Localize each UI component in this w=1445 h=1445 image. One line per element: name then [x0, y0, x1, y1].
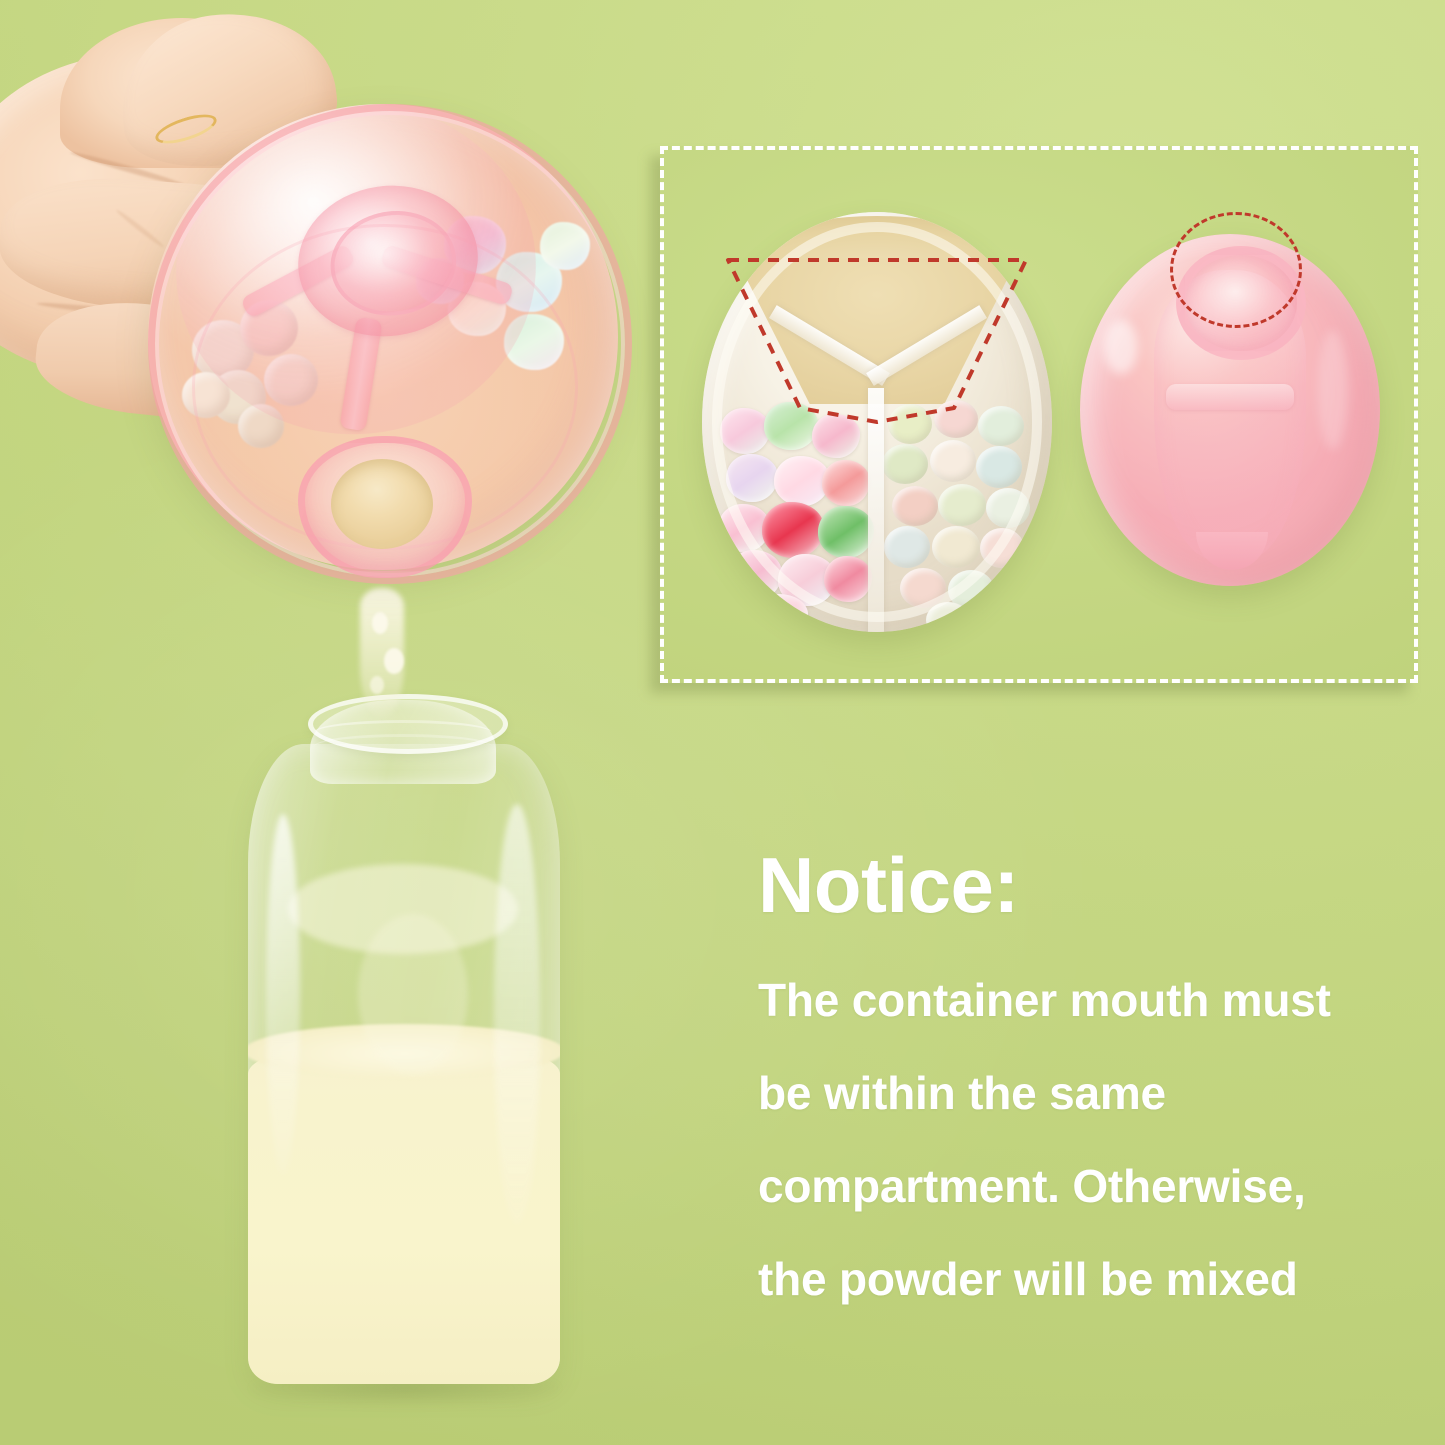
powder-speck [384, 648, 404, 674]
product-infographic: Notice: The container mouth must be with… [0, 0, 1445, 1445]
notice-title: Notice: [758, 846, 1398, 924]
pour-spout [298, 436, 472, 578]
bottle-highlight-right [494, 804, 540, 1224]
notice-block: Notice: The container mouth must be with… [758, 846, 1398, 1326]
powder-speck [372, 612, 388, 634]
notice-line: the powder will be mixed [758, 1233, 1398, 1326]
bottle-highlight-left [266, 814, 300, 1174]
product-detail-inset [660, 146, 1418, 683]
inset-dashed-border [660, 146, 1418, 683]
powder-speck [370, 676, 384, 694]
notice-line: compartment. Otherwise, [758, 1140, 1398, 1233]
bottle-mouth [308, 694, 508, 754]
bottle-inner-dust [358, 914, 468, 1074]
notice-line: The container mouth must [758, 954, 1398, 1047]
notice-line: be within the same [758, 1047, 1398, 1140]
spout-opening [331, 459, 433, 549]
glass-baby-bottle [240, 700, 570, 1390]
pink-powder-dispenser [148, 76, 628, 596]
bottle-glass-body [248, 744, 560, 1384]
